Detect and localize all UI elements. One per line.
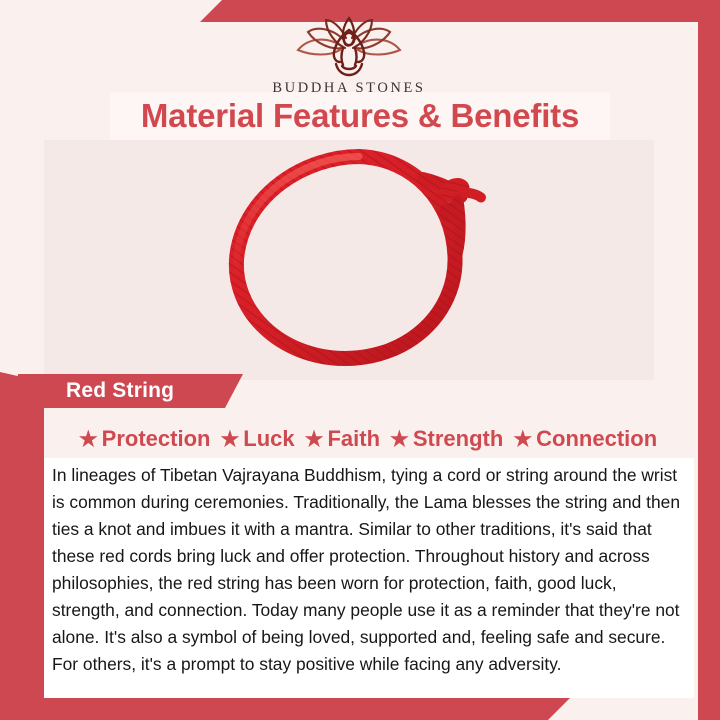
- description-text: In lineages of Tibetan Vajrayana Buddhis…: [44, 462, 694, 678]
- feature-item-strength: ★ Strength: [385, 426, 508, 452]
- bracelet-svg: [209, 143, 489, 373]
- feature-label: Connection: [536, 426, 657, 452]
- frame-bar-bottom: [0, 698, 570, 720]
- title-banner: Material Features & Benefits: [110, 92, 610, 140]
- feature-item-faith: ★ Faith: [300, 426, 385, 452]
- lotus-meditation-icon: [290, 16, 408, 78]
- page-title: Material Features & Benefits: [141, 97, 579, 135]
- star-icon: ★: [390, 429, 409, 450]
- description-block: In lineages of Tibetan Vajrayana Buddhis…: [44, 458, 694, 698]
- star-icon: ★: [305, 429, 324, 450]
- feature-label: Strength: [413, 426, 503, 452]
- frame-bar-right: [698, 0, 720, 720]
- feature-label: Faith: [327, 426, 380, 452]
- product-photo: [44, 140, 654, 380]
- infographic-page: BUDDHA STONES Material Features & Benefi…: [0, 0, 720, 720]
- feature-item-connection: ★ Connection: [508, 426, 662, 452]
- feature-label: Protection: [102, 426, 211, 452]
- red-string-bracelet-image: [209, 143, 489, 378]
- feature-label: Luck: [243, 426, 294, 452]
- feature-item-luck: ★ Luck: [215, 426, 299, 452]
- star-icon: ★: [79, 429, 98, 450]
- brand-logo: BUDDHA STONES: [0, 16, 698, 97]
- product-label-banner: Red String: [18, 374, 243, 408]
- feature-item-protection: ★ Protection: [74, 426, 216, 452]
- frame-bar-left: [0, 372, 44, 720]
- feature-list: ★ Protection ★ Luck ★ Faith ★ Strength ★…: [44, 420, 692, 458]
- star-icon: ★: [513, 429, 532, 450]
- product-label: Red String: [66, 379, 174, 403]
- star-icon: ★: [220, 429, 239, 450]
